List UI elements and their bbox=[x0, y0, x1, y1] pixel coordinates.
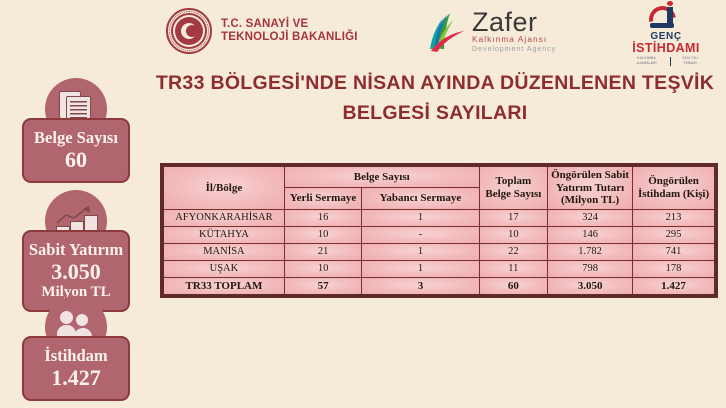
zafer-swoosh-logo-icon bbox=[426, 11, 466, 53]
header-toplam-belge-sayisi: Toplam Belge Sayısı bbox=[479, 165, 547, 209]
zafer-name: Zafer bbox=[472, 9, 556, 35]
cell-toplam: 11 bbox=[479, 260, 547, 277]
cell-yerli: 10 bbox=[284, 226, 361, 243]
table-row: MANİSA 21 1 22 1.782 741 bbox=[162, 243, 716, 260]
table-header: İl/Bölge Belge Sayısı Toplam Belge Sayıs… bbox=[162, 165, 716, 209]
turkish-ministry-emblem-icon bbox=[166, 8, 212, 54]
table-row: AFYONKARAHİSAR 16 1 17 324 213 bbox=[162, 209, 716, 226]
cell-yerli: 21 bbox=[284, 243, 361, 260]
table-total-row: TR33 TOPLAM 57 3 60 3.050 1.427 bbox=[162, 277, 716, 296]
cell-yabanci: 1 bbox=[362, 209, 479, 226]
cell-yatirim: 324 bbox=[548, 209, 633, 226]
header-region: İl/Bölge bbox=[162, 165, 284, 209]
ministry-logo: T.C. SANAYİ VE TEKNOLOJİ BAKANLIĞI bbox=[166, 8, 358, 54]
ministry-line-2: TEKNOLOJİ BAKANLIĞI bbox=[221, 31, 358, 45]
genc-tag-right: 2023 YILI TEMASI bbox=[675, 56, 705, 66]
cell-yerli: 57 bbox=[284, 277, 361, 296]
ministry-logo-text: T.C. SANAYİ VE TEKNOLOJİ BAKANLIĞI bbox=[221, 18, 358, 45]
cell-toplam: 17 bbox=[479, 209, 547, 226]
kpi-label: Sabit Yatırım bbox=[28, 240, 124, 259]
genc-line-2: İSTİHDAMI bbox=[627, 42, 705, 55]
zafer-logo: Zafer Kalkınma Ajansı Development Agency bbox=[426, 9, 556, 54]
cell-istihdam: 178 bbox=[633, 260, 716, 277]
cell-istihdam: 1.427 bbox=[633, 277, 716, 296]
genc-istihdami-logo-icon bbox=[641, 4, 691, 30]
cell-yabanci: 1 bbox=[362, 260, 479, 277]
table-row: KÜTAHYA 10 - 10 146 295 bbox=[162, 226, 716, 243]
cell-yatirim: 3.050 bbox=[548, 277, 633, 296]
cell-yatirim: 798 bbox=[548, 260, 633, 277]
header-ongorulen-istihdam: Öngörülen İstihdam (Kişi) bbox=[633, 165, 716, 209]
cell-yerli: 16 bbox=[284, 209, 361, 226]
cell-region: TR33 TOPLAM bbox=[162, 277, 284, 296]
cell-region: AFYONKARAHİSAR bbox=[162, 209, 284, 226]
genc-istihdami-logo: GENÇ İSTİHDAMI KALKINMA AJANSLARI 2023 Y… bbox=[627, 4, 705, 66]
cell-toplam: 22 bbox=[479, 243, 547, 260]
cell-toplam: 10 bbox=[479, 226, 547, 243]
table-body: AFYONKARAHİSAR 16 1 17 324 213 KÜTAHYA 1… bbox=[162, 209, 716, 296]
kpi-value: 1.427 bbox=[28, 365, 124, 390]
kpi-label: Belge Sayısı bbox=[28, 128, 124, 147]
header-belge-sayisi-group: Belge Sayısı bbox=[284, 165, 479, 188]
cell-yabanci: 3 bbox=[362, 277, 479, 296]
cell-region: MANİSA bbox=[162, 243, 284, 260]
header-yerli-sermaye: Yerli Sermaye bbox=[284, 188, 361, 209]
cell-istihdam: 741 bbox=[633, 243, 716, 260]
cell-yerli: 10 bbox=[284, 260, 361, 277]
kpi-card-list: Belge Sayısı 60 Sabit Yatırım 3.050 Mily… bbox=[0, 0, 152, 408]
ministry-line-1: T.C. SANAYİ VE bbox=[221, 18, 358, 32]
cell-toplam: 60 bbox=[479, 277, 547, 296]
cell-region: UŞAK bbox=[162, 260, 284, 277]
page-title: TR33 BÖLGESİ'NDE NİSAN AYINDA DÜZENLENEN… bbox=[152, 68, 718, 128]
table-header-row-1: İl/Bölge Belge Sayısı Toplam Belge Sayıs… bbox=[162, 165, 716, 188]
cell-yatirim: 146 bbox=[548, 226, 633, 243]
cell-istihdam: 295 bbox=[633, 226, 716, 243]
cell-yabanci: - bbox=[362, 226, 479, 243]
zafer-subtitle-en: Development Agency bbox=[472, 45, 556, 54]
zafer-logo-text: Zafer Kalkınma Ajansı Development Agency bbox=[472, 9, 556, 54]
incentive-certificates-table: İl/Bölge Belge Sayısı Toplam Belge Sayıs… bbox=[160, 163, 718, 298]
kpi-value: 3.050 bbox=[28, 259, 124, 284]
table-row: UŞAK 10 1 11 798 178 bbox=[162, 260, 716, 277]
header-yabanci-sermaye: Yabancı Sermaye bbox=[362, 188, 479, 209]
infographic-page: T.C. SANAYİ VE TEKNOLOJİ BAKANLIĞI Zafer… bbox=[0, 0, 726, 408]
genc-tag-left: KALKINMA AJANSLARI bbox=[627, 56, 666, 66]
kpi-label: İstihdam bbox=[28, 346, 124, 365]
kpi-value: 60 bbox=[28, 147, 124, 172]
cell-region: KÜTAHYA bbox=[162, 226, 284, 243]
header-ongorulen-sabit-yatirim-tutari: Öngörülen Sabit Yatırım Tutarı (Milyon T… bbox=[548, 165, 633, 209]
cell-istihdam: 213 bbox=[633, 209, 716, 226]
cell-yabanci: 1 bbox=[362, 243, 479, 260]
cell-yatirim: 1.782 bbox=[548, 243, 633, 260]
zafer-subtitle-tr: Kalkınma Ajansı bbox=[472, 35, 556, 45]
